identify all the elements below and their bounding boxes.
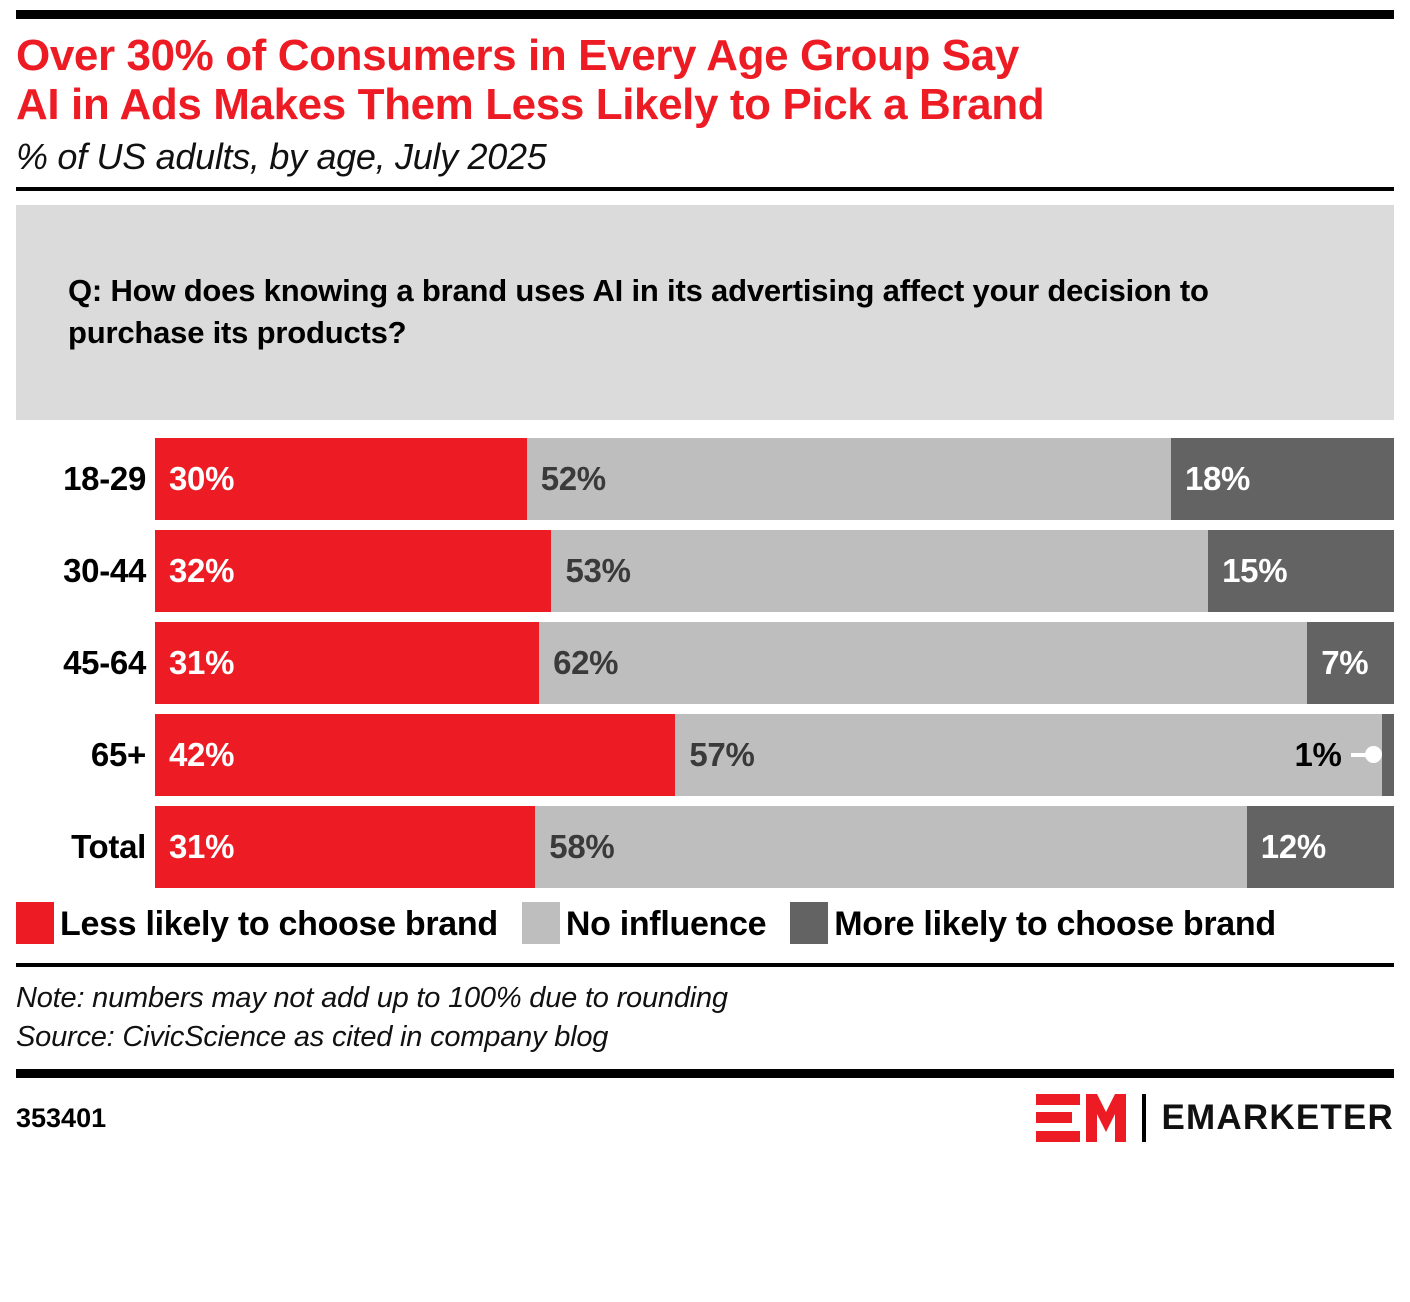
- row-bars: 31%62%7%: [155, 622, 1394, 704]
- row-bars: 32%53%15%: [155, 530, 1394, 612]
- bar-segment-none[interactable]: 57%: [675, 714, 1381, 796]
- chart-row: 18-2930%52%18%: [16, 438, 1394, 520]
- legend-spacer: [498, 904, 522, 945]
- segment-value-label: 32%: [155, 552, 234, 590]
- segment-value-label: 52%: [527, 460, 606, 498]
- bar-segment-none[interactable]: 52%: [527, 438, 1171, 520]
- bar-segment-none[interactable]: 58%: [535, 806, 1247, 888]
- brand-lockup: EMARKETER: [1036, 1092, 1394, 1144]
- page-subtitle: % of US adults, by age, July 2025: [16, 136, 1394, 177]
- bar-segment-more[interactable]: 12%: [1247, 806, 1394, 888]
- legend-label: More likely to choose brand: [834, 905, 1276, 943]
- bar-segment-less[interactable]: 30%: [155, 438, 527, 520]
- legend-swatch-more: [790, 902, 828, 944]
- bar-segment-less[interactable]: 31%: [155, 806, 535, 888]
- legend-spacer: [766, 904, 790, 945]
- bar-segment-less[interactable]: 42%: [155, 714, 675, 796]
- notes-bottom-rule: [16, 1069, 1394, 1078]
- bar-segment-more[interactable]: 1%: [1382, 714, 1394, 796]
- legend-swatch-none: [522, 902, 560, 944]
- bar-segment-more[interactable]: 7%: [1307, 622, 1394, 704]
- segment-value-label: 31%: [155, 828, 234, 866]
- footer: 353401 EMARKETER: [16, 1092, 1394, 1144]
- segment-value-label: 15%: [1208, 552, 1287, 590]
- legend-label: No influence: [566, 905, 766, 943]
- row-bars: 30%52%18%: [155, 438, 1394, 520]
- chart-id: 353401: [16, 1103, 106, 1134]
- segment-value-label: 30%: [155, 460, 234, 498]
- bar-segment-more[interactable]: 18%: [1171, 438, 1394, 520]
- row-label-total: Total: [16, 806, 155, 888]
- row-bars: 31%58%12%: [155, 806, 1394, 888]
- chart-row: 30-4432%53%15%: [16, 530, 1394, 612]
- brand-divider: [1142, 1094, 1146, 1142]
- emarketer-logo-icon: [1036, 1092, 1128, 1144]
- row-label-30-44: 30-44: [16, 530, 155, 612]
- source-text: Source: CivicScience as cited in company…: [16, 1018, 1394, 1057]
- row-label-18-29: 18-29: [16, 438, 155, 520]
- question-box: Q: How does knowing a brand uses AI in i…: [16, 205, 1394, 420]
- segment-value-label: 31%: [155, 644, 234, 682]
- segment-value-label: 12%: [1247, 828, 1326, 866]
- segment-value-label: 53%: [551, 552, 630, 590]
- bar-segment-more[interactable]: 15%: [1208, 530, 1394, 612]
- chart-row: Total31%58%12%: [16, 806, 1394, 888]
- segment-value-label: 62%: [539, 644, 618, 682]
- legend-label: Less likely to choose brand: [60, 905, 498, 943]
- segment-value-label: 18%: [1171, 460, 1250, 498]
- chart-legend: Less likely to choose brand No influence…: [16, 902, 1394, 945]
- page-title: Over 30% of Consumers in Every Age Group…: [16, 31, 1394, 130]
- notes-section: Note: numbers may not add up to 100% due…: [16, 963, 1394, 1078]
- brand-name: EMARKETER: [1162, 1098, 1394, 1138]
- row-bars: 42%57%1%: [155, 714, 1394, 796]
- top-rule: [16, 10, 1394, 19]
- bar-segment-none[interactable]: 62%: [539, 622, 1307, 704]
- chart-row: 45-6431%62%7%: [16, 622, 1394, 704]
- note-text: Note: numbers may not add up to 100% due…: [16, 979, 1394, 1018]
- chart-row: 65+42%57%1%: [16, 714, 1394, 796]
- row-label-65-: 65+: [16, 714, 155, 796]
- question-text: Q: How does knowing a brand uses AI in i…: [68, 270, 1248, 356]
- chart-page: Over 30% of Consumers in Every Age Group…: [0, 10, 1410, 1302]
- legend-swatch-less: [16, 902, 54, 944]
- bar-segment-none[interactable]: 53%: [551, 530, 1208, 612]
- row-label-45-64: 45-64: [16, 622, 155, 704]
- segment-value-label: 7%: [1307, 644, 1368, 682]
- stacked-bar-chart: 18-2930%52%18%30-4432%53%15%45-6431%62%7…: [16, 438, 1394, 888]
- title-divider-rule: [16, 187, 1394, 191]
- segment-value-label: 42%: [155, 736, 234, 774]
- segment-value-label: 58%: [535, 828, 614, 866]
- bar-segment-less[interactable]: 31%: [155, 622, 539, 704]
- bar-segment-less[interactable]: 32%: [155, 530, 551, 612]
- segment-value-label: 57%: [675, 736, 754, 774]
